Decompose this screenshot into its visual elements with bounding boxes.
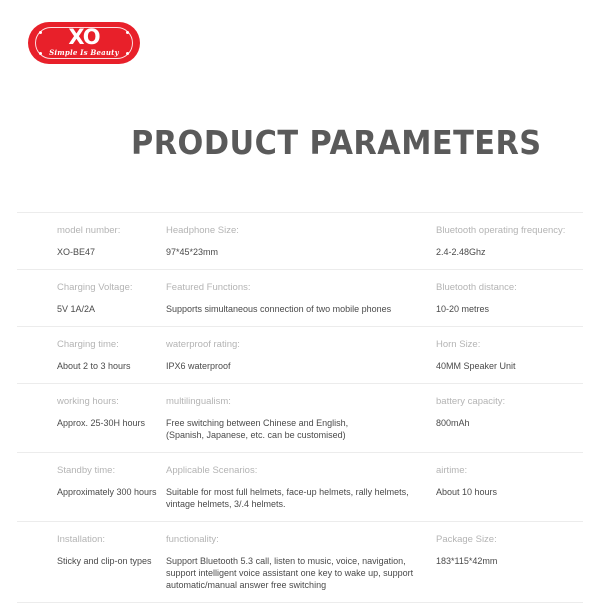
spec-value-line: 10-20 metres (436, 303, 575, 315)
spec-value: Approx. 25-30H hours (57, 417, 154, 429)
spec-cell: Bluetooth operating frequency:2.4-2.48Gh… (412, 224, 583, 258)
spec-value-line: automatic/manual answer free switching (166, 579, 404, 591)
spec-cell: waterproof rating:IPX6 waterproof (162, 338, 412, 372)
spec-value-line: 40MM Speaker Unit (436, 360, 575, 372)
spec-cell: Charging time:About 2 to 3 hours (17, 338, 162, 372)
spec-value: About 2 to 3 hours (57, 360, 154, 372)
spec-value-line: 800mAh (436, 417, 575, 429)
spec-value-line: About 2 to 3 hours (57, 360, 154, 372)
spec-value: 5V 1A/2A (57, 303, 154, 315)
spec-label: Installation: (57, 533, 154, 546)
page-title: PRODUCT PARAMETERS (131, 123, 542, 162)
spec-value: 2.4-2.48Ghz (436, 246, 575, 258)
spec-label: Package Size: (436, 533, 575, 546)
spec-value-line: XO-BE47 (57, 246, 154, 258)
spec-label: Charging time: (57, 338, 154, 351)
spec-cell: Package Size:183*115*42mm (412, 533, 583, 591)
spec-label: Headphone Size: (166, 224, 404, 237)
spec-cell: Charging Voltage:5V 1A/2A (17, 281, 162, 315)
spec-label: airtime: (436, 464, 575, 477)
spec-cell: battery capacity:800mAh (412, 395, 583, 441)
spec-row: Installation:Sticky and clip-on typesfun… (17, 522, 583, 603)
spec-cell: Installation:Sticky and clip-on types (17, 533, 162, 591)
spec-cell: Bluetooth distance:10-20 metres (412, 281, 583, 315)
logo-tagline: Simple Is Beauty (28, 49, 140, 57)
spec-value: 40MM Speaker Unit (436, 360, 575, 372)
logo-badge: XO Simple Is Beauty (28, 22, 140, 64)
spec-value-line: IPX6 waterproof (166, 360, 404, 372)
spec-table: model number:XO-BE47Headphone Size:97*45… (17, 212, 583, 603)
spec-row: Charging Voltage:5V 1A/2AFeatured Functi… (17, 270, 583, 327)
spec-value-line: Supports simultaneous connection of two … (166, 303, 404, 315)
spec-value-line: 2.4-2.48Ghz (436, 246, 575, 258)
spec-value: Support Bluetooth 5.3 call, listen to mu… (166, 555, 404, 591)
spec-label: multilingualism: (166, 395, 404, 408)
spec-row: Standby time:Approximately 300 hoursAppl… (17, 453, 583, 522)
spec-value: Supports simultaneous connection of two … (166, 303, 404, 315)
spec-value: About 10 hours (436, 486, 575, 498)
spec-value-line: Support Bluetooth 5.3 call, listen to mu… (166, 555, 404, 567)
spec-label: working hours: (57, 395, 154, 408)
spec-label: Horn Size: (436, 338, 575, 351)
spec-value-line: Sticky and clip-on types (57, 555, 154, 567)
spec-value-line: vintage helmets, 3/.4 helmets. (166, 498, 404, 510)
spec-value-line: Free switching between Chinese and Engli… (166, 417, 404, 429)
spec-row: Charging time:About 2 to 3 hourswaterpro… (17, 327, 583, 384)
spec-cell: multilingualism:Free switching between C… (162, 395, 412, 441)
spec-label: model number: (57, 224, 154, 237)
spec-label: Bluetooth operating frequency: (436, 224, 575, 237)
spec-label: Bluetooth distance: (436, 281, 575, 294)
spec-row: working hours:Approx. 25-30H hoursmultil… (17, 384, 583, 453)
spec-label: battery capacity: (436, 395, 575, 408)
spec-value: 10-20 metres (436, 303, 575, 315)
spec-label: waterproof rating: (166, 338, 404, 351)
spec-value: 183*115*42mm (436, 555, 575, 567)
spec-cell: Standby time:Approximately 300 hours (17, 464, 162, 510)
spec-value: XO-BE47 (57, 246, 154, 258)
spec-label: Applicable Scenarios: (166, 464, 404, 477)
logo-wordmark: XO (28, 27, 140, 48)
spec-value: 97*45*23mm (166, 246, 404, 258)
brand-logo: XO Simple Is Beauty (28, 22, 146, 68)
spec-value-line: Approx. 25-30H hours (57, 417, 154, 429)
spec-label: Featured Functions: (166, 281, 404, 294)
spec-value: IPX6 waterproof (166, 360, 404, 372)
spec-value: Free switching between Chinese and Engli… (166, 417, 404, 441)
spec-value: Suitable for most full helmets, face-up … (166, 486, 404, 510)
spec-cell: Applicable Scenarios:Suitable for most f… (162, 464, 412, 510)
spec-label: Standby time: (57, 464, 154, 477)
spec-cell: Horn Size:40MM Speaker Unit (412, 338, 583, 372)
spec-value-line: Suitable for most full helmets, face-up … (166, 486, 404, 498)
spec-cell: Featured Functions:Supports simultaneous… (162, 281, 412, 315)
spec-value-line: (Spanish, Japanese, etc. can be customis… (166, 429, 404, 441)
spec-value-line: support intelligent voice assistant one … (166, 567, 404, 579)
spec-cell: model number:XO-BE47 (17, 224, 162, 258)
spec-value: Approximately 300 hours (57, 486, 154, 498)
spec-cell: Headphone Size:97*45*23mm (162, 224, 412, 258)
spec-label: Charging Voltage: (57, 281, 154, 294)
spec-cell: airtime:About 10 hours (412, 464, 583, 510)
spec-value: 800mAh (436, 417, 575, 429)
spec-cell: functionality:Support Bluetooth 5.3 call… (162, 533, 412, 591)
spec-value-line: 97*45*23mm (166, 246, 404, 258)
spec-row: model number:XO-BE47Headphone Size:97*45… (17, 212, 583, 270)
spec-value-line: 183*115*42mm (436, 555, 575, 567)
spec-value-line: 5V 1A/2A (57, 303, 154, 315)
spec-cell: working hours:Approx. 25-30H hours (17, 395, 162, 441)
spec-value: Sticky and clip-on types (57, 555, 154, 567)
spec-label: functionality: (166, 533, 404, 546)
spec-value-line: Approximately 300 hours (57, 486, 154, 498)
spec-value-line: About 10 hours (436, 486, 575, 498)
